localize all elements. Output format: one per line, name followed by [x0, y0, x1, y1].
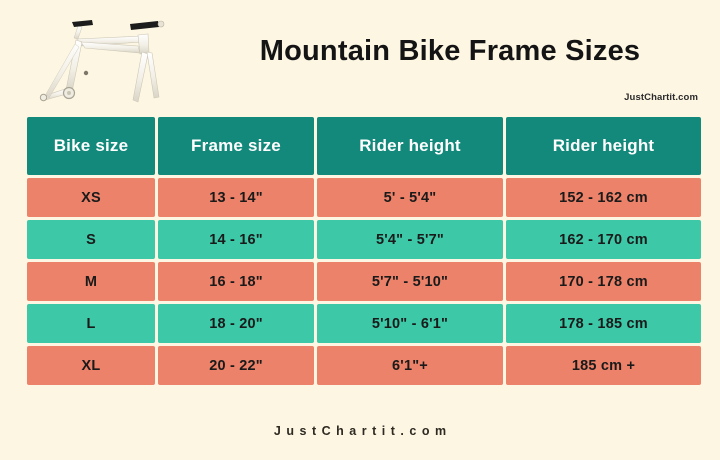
cell-rider-height-cm: 185 cm + — [506, 346, 701, 385]
column-header-rider-height-ft: Rider height — [317, 117, 503, 175]
footer-brand: JustChartit.com — [0, 424, 720, 438]
cell-frame-size: 16 - 18" — [158, 262, 314, 301]
cell-bike-size: L — [27, 304, 155, 343]
table-row: XS 13 - 14" 5' - 5'4" 152 - 162 cm — [27, 178, 701, 217]
cell-bike-size: XS — [27, 178, 155, 217]
cell-frame-size: 14 - 16" — [158, 220, 314, 259]
cell-frame-size: 20 - 22" — [158, 346, 314, 385]
cell-frame-size: 13 - 14" — [158, 178, 314, 217]
bike-size-chart-poster: Mountain Bike Frame Sizes JustChartit.co… — [0, 0, 720, 460]
cell-bike-size: XL — [27, 346, 155, 385]
cell-rider-height-ft: 5'4" - 5'7" — [317, 220, 503, 259]
table-row: S 14 - 16" 5'4" - 5'7" 162 - 170 cm — [27, 220, 701, 259]
cell-bike-size: M — [27, 262, 155, 301]
cell-bike-size: S — [27, 220, 155, 259]
column-header-bike-size: Bike size — [27, 117, 155, 175]
cell-rider-height-cm: 162 - 170 cm — [506, 220, 701, 259]
table-row: L 18 - 20" 5'10" - 6'1" 178 - 185 cm — [27, 304, 701, 343]
cell-rider-height-cm: 170 - 178 cm — [506, 262, 701, 301]
cell-frame-size: 18 - 20" — [158, 304, 314, 343]
cell-rider-height-ft: 6'1"+ — [317, 346, 503, 385]
table-row: M 16 - 18" 5'7" - 5'10" 170 - 178 cm — [27, 262, 701, 301]
bicycle-frame-illustration — [30, 8, 186, 112]
column-header-frame-size: Frame size — [158, 117, 314, 175]
cell-rider-height-cm: 178 - 185 cm — [506, 304, 701, 343]
table-header-row: Bike size Frame size Rider height Rider … — [27, 117, 701, 175]
bike-size-table: Bike size Frame size Rider height Rider … — [24, 114, 704, 388]
cell-rider-height-cm: 152 - 162 cm — [506, 178, 701, 217]
column-header-rider-height-cm: Rider height — [506, 117, 701, 175]
table-row: XL 20 - 22" 6'1"+ 185 cm + — [27, 346, 701, 385]
poster-header: Mountain Bike Frame Sizes JustChartit.co… — [0, 0, 720, 112]
cell-rider-height-ft: 5'7" - 5'10" — [317, 262, 503, 301]
watermark-top: JustChartit.com — [624, 92, 698, 103]
cell-rider-height-ft: 5'10" - 6'1" — [317, 304, 503, 343]
cell-rider-height-ft: 5' - 5'4" — [317, 178, 503, 217]
page-title: Mountain Bike Frame Sizes — [200, 36, 700, 68]
